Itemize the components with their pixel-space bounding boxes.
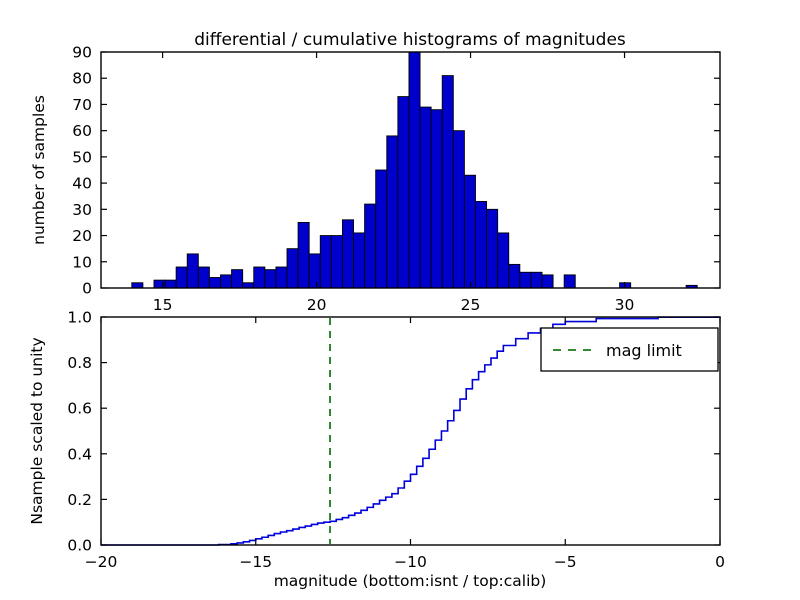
histogram-bar xyxy=(398,97,409,288)
histogram-bar xyxy=(453,131,464,288)
histogram-bar xyxy=(420,107,431,288)
bottom-x-tick-label: −15 xyxy=(239,553,272,571)
legend[interactable]: mag limit xyxy=(541,328,718,371)
chart-svg: differential / cumulative histograms of … xyxy=(0,0,800,600)
histogram-bar xyxy=(431,110,442,288)
histogram-bar xyxy=(265,270,276,288)
bottom-y-tick-label: 0.4 xyxy=(67,445,92,463)
histogram-bar xyxy=(331,236,342,288)
top-y-axis-label: number of samples xyxy=(30,95,48,245)
histogram-bar xyxy=(298,222,309,288)
chart-title: differential / cumulative histograms of … xyxy=(194,30,626,50)
histogram-bar xyxy=(342,220,353,288)
histogram-bar xyxy=(520,272,531,288)
histogram-bar xyxy=(276,267,287,288)
histogram-bar xyxy=(475,201,486,288)
histogram-bar xyxy=(209,278,220,288)
top-y-tick-label: 70 xyxy=(72,96,92,114)
histogram-bar xyxy=(187,254,198,288)
top-y-tick-label: 20 xyxy=(72,227,92,245)
histogram-bar xyxy=(564,275,575,288)
bottom-y-tick-label: 0.0 xyxy=(67,537,92,555)
histogram-bar xyxy=(176,267,187,288)
histogram-bar xyxy=(442,76,453,288)
bottom-y-tick-label: 0.8 xyxy=(67,354,92,372)
top-y-tick-label: 90 xyxy=(72,44,92,62)
top-panel: differential / cumulative histograms of … xyxy=(30,30,720,314)
histogram-bar xyxy=(220,275,231,288)
histogram-bar xyxy=(254,267,265,288)
top-y-tick-label: 40 xyxy=(72,175,92,193)
histogram-bar xyxy=(487,209,498,288)
top-x-tick-label: 15 xyxy=(153,296,173,314)
figure-canvas: differential / cumulative histograms of … xyxy=(0,0,800,600)
histogram-bar xyxy=(198,267,209,288)
bottom-y-tick-label: 1.0 xyxy=(67,309,92,327)
histogram-bar xyxy=(165,280,176,288)
bottom-y-tick-label: 0.6 xyxy=(67,400,92,418)
histogram-bar xyxy=(132,283,143,288)
top-y-tick-label: 80 xyxy=(72,70,92,88)
top-y-tick-label: 10 xyxy=(72,253,92,271)
histogram-bar xyxy=(243,283,254,288)
histogram-bar xyxy=(376,170,387,288)
histogram-bar xyxy=(542,275,553,288)
top-x-tick-label: 25 xyxy=(461,296,481,314)
histogram-bar xyxy=(354,233,365,288)
histogram-bar xyxy=(154,280,165,288)
bottom-x-tick-label: −5 xyxy=(554,553,577,571)
histogram-bar xyxy=(287,249,298,288)
bottom-y-axis-label: Nsample scaled to unity xyxy=(28,337,46,524)
top-y-tick-label: 50 xyxy=(72,148,92,166)
histogram-bar xyxy=(498,233,509,288)
bottom-x-axis-label: magnitude (bottom:isnt / top:calib) xyxy=(274,572,547,590)
top-y-tick-label: 60 xyxy=(72,122,92,140)
histogram-bar xyxy=(387,136,398,288)
legend-label-mag-limit: mag limit xyxy=(606,341,682,360)
bottom-y-tick-label: 0.2 xyxy=(67,491,92,509)
histogram-bar xyxy=(309,254,320,288)
histogram-bar xyxy=(620,283,631,288)
histogram-bar xyxy=(320,236,331,288)
bottom-x-tick-label: −10 xyxy=(394,553,427,571)
top-y-tick-label: 30 xyxy=(72,201,92,219)
histogram-bar xyxy=(531,272,542,288)
histogram-bar xyxy=(409,52,420,288)
histogram-bar xyxy=(464,175,475,288)
bottom-x-tick-label: −20 xyxy=(85,553,118,571)
top-x-tick-label: 20 xyxy=(307,296,327,314)
histogram-bar xyxy=(365,204,376,288)
top-x-tick-label: 30 xyxy=(615,296,635,314)
histogram-bar xyxy=(232,270,243,288)
bottom-x-tick-label: 0 xyxy=(715,553,725,571)
top-y-tick-label: 0 xyxy=(82,280,92,298)
histogram-bar xyxy=(509,264,520,288)
